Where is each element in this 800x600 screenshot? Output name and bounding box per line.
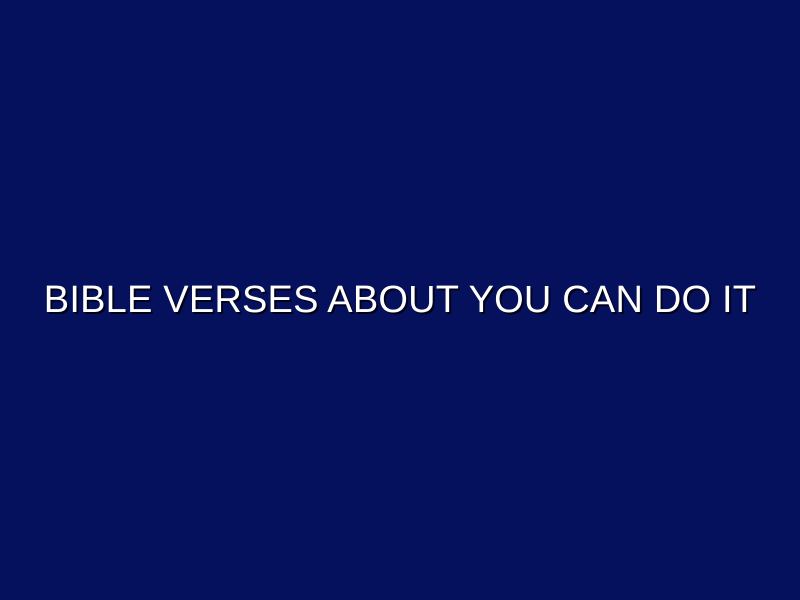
title-card: BIBLE VERSES ABOUT YOU CAN DO IT [0, 0, 800, 600]
headline-container: BIBLE VERSES ABOUT YOU CAN DO IT [0, 277, 800, 323]
page-title: BIBLE VERSES ABOUT YOU CAN DO IT [44, 277, 756, 323]
